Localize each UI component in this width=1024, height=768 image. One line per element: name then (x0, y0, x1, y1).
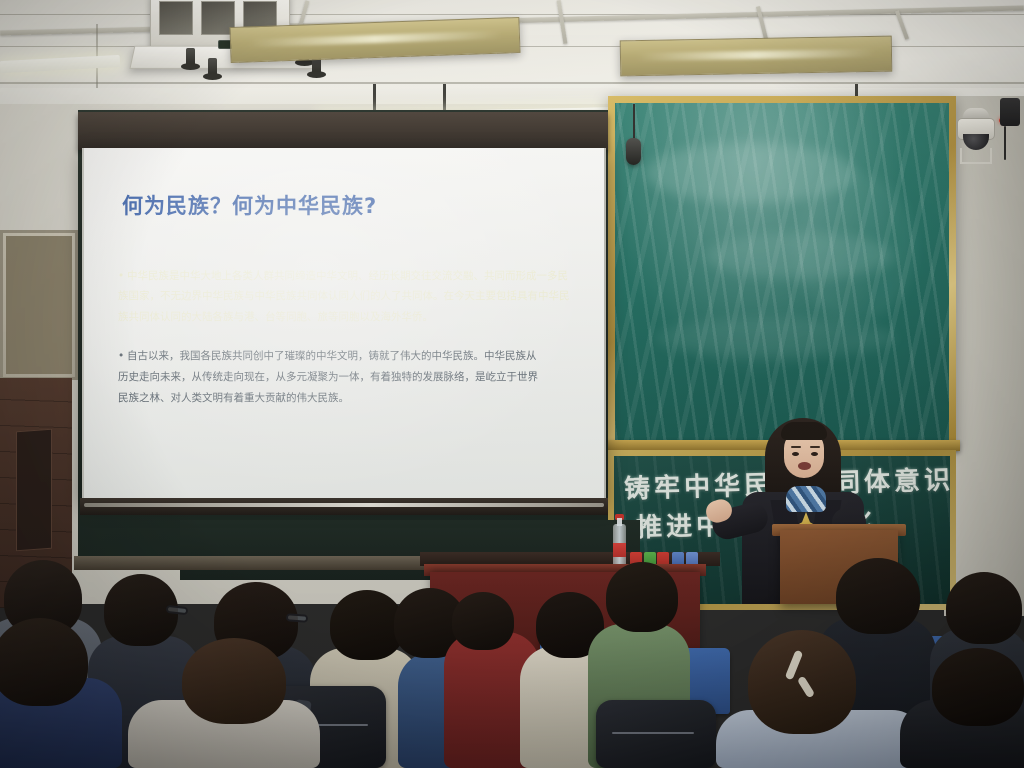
student-head (0, 618, 88, 706)
projection-screen-casing (78, 112, 608, 150)
projector-stud (208, 58, 217, 76)
wall-speaker-icon (1000, 98, 1020, 126)
left-wall-inset (16, 429, 52, 552)
projection-screen-weight-rod (84, 503, 604, 507)
backpack-zipper (612, 732, 694, 734)
slide-bullet-main: •自古以来，我国各民族共同创中了璀璨的中华文明，铸就了伟大的中华民族。中华民族从… (118, 346, 538, 409)
lattice-grille-icon (6, 236, 72, 374)
classroom-photo: 铸牢中华民族共同体意识 推进中国式现代化 和学院 12.30 何为民族？何为中华… (0, 0, 1024, 768)
right-wall (944, 96, 1024, 616)
bullet-marker: • (118, 346, 127, 367)
slide-bullet-faint-text: 中华民族是中华大地上各类人群共同缔造中华文明、经历长期交往交流交融、共同而形成一… (118, 270, 570, 323)
student-head (606, 562, 678, 632)
bottle-label (613, 543, 626, 557)
chalkboard-surface (615, 103, 949, 441)
slide-bullet-faint: •中华民族是中华大地上各类人群共同缔造中华文明、经历长期交往交流交融、共同而形成… (118, 266, 570, 327)
slide-bullet-main-text: 自古以来，我国各民族共同创中了璀璨的中华文明，铸就了伟大的中华民族。中华民族从历… (118, 350, 538, 404)
microphone-icon (626, 138, 641, 165)
slide-title: 何为民族？何为中华民族? (122, 190, 377, 220)
lattice-panel (0, 230, 78, 380)
chalkboard-upper (608, 96, 956, 448)
microphone-cord (633, 104, 635, 140)
backpack (596, 700, 716, 768)
student-glasses (286, 613, 309, 623)
student-head (932, 648, 1024, 726)
student-head (836, 558, 920, 634)
lecturer-brow (791, 446, 801, 448)
bullet-marker: • (118, 266, 127, 286)
lecturer-fringe (781, 422, 827, 440)
lecturer-mouth (798, 462, 811, 470)
ceiling-light-fixture (620, 36, 893, 77)
projector-stud (186, 48, 195, 66)
lecturer-scarf (786, 486, 826, 512)
lecturer-brow (810, 446, 820, 448)
student-head (946, 572, 1022, 644)
student-head (452, 592, 514, 650)
speaker-wire (1004, 126, 1006, 160)
projection-screen[interactable]: 何为民族？何为中华民族? •中华民族是中华大地上各类人群共同缔造中华文明、经历长… (82, 148, 606, 500)
student-head (182, 638, 286, 724)
lecturer-eye (792, 452, 799, 456)
student-head (330, 590, 404, 660)
lecturer-eye (811, 452, 818, 456)
camera-bracket (960, 148, 992, 164)
